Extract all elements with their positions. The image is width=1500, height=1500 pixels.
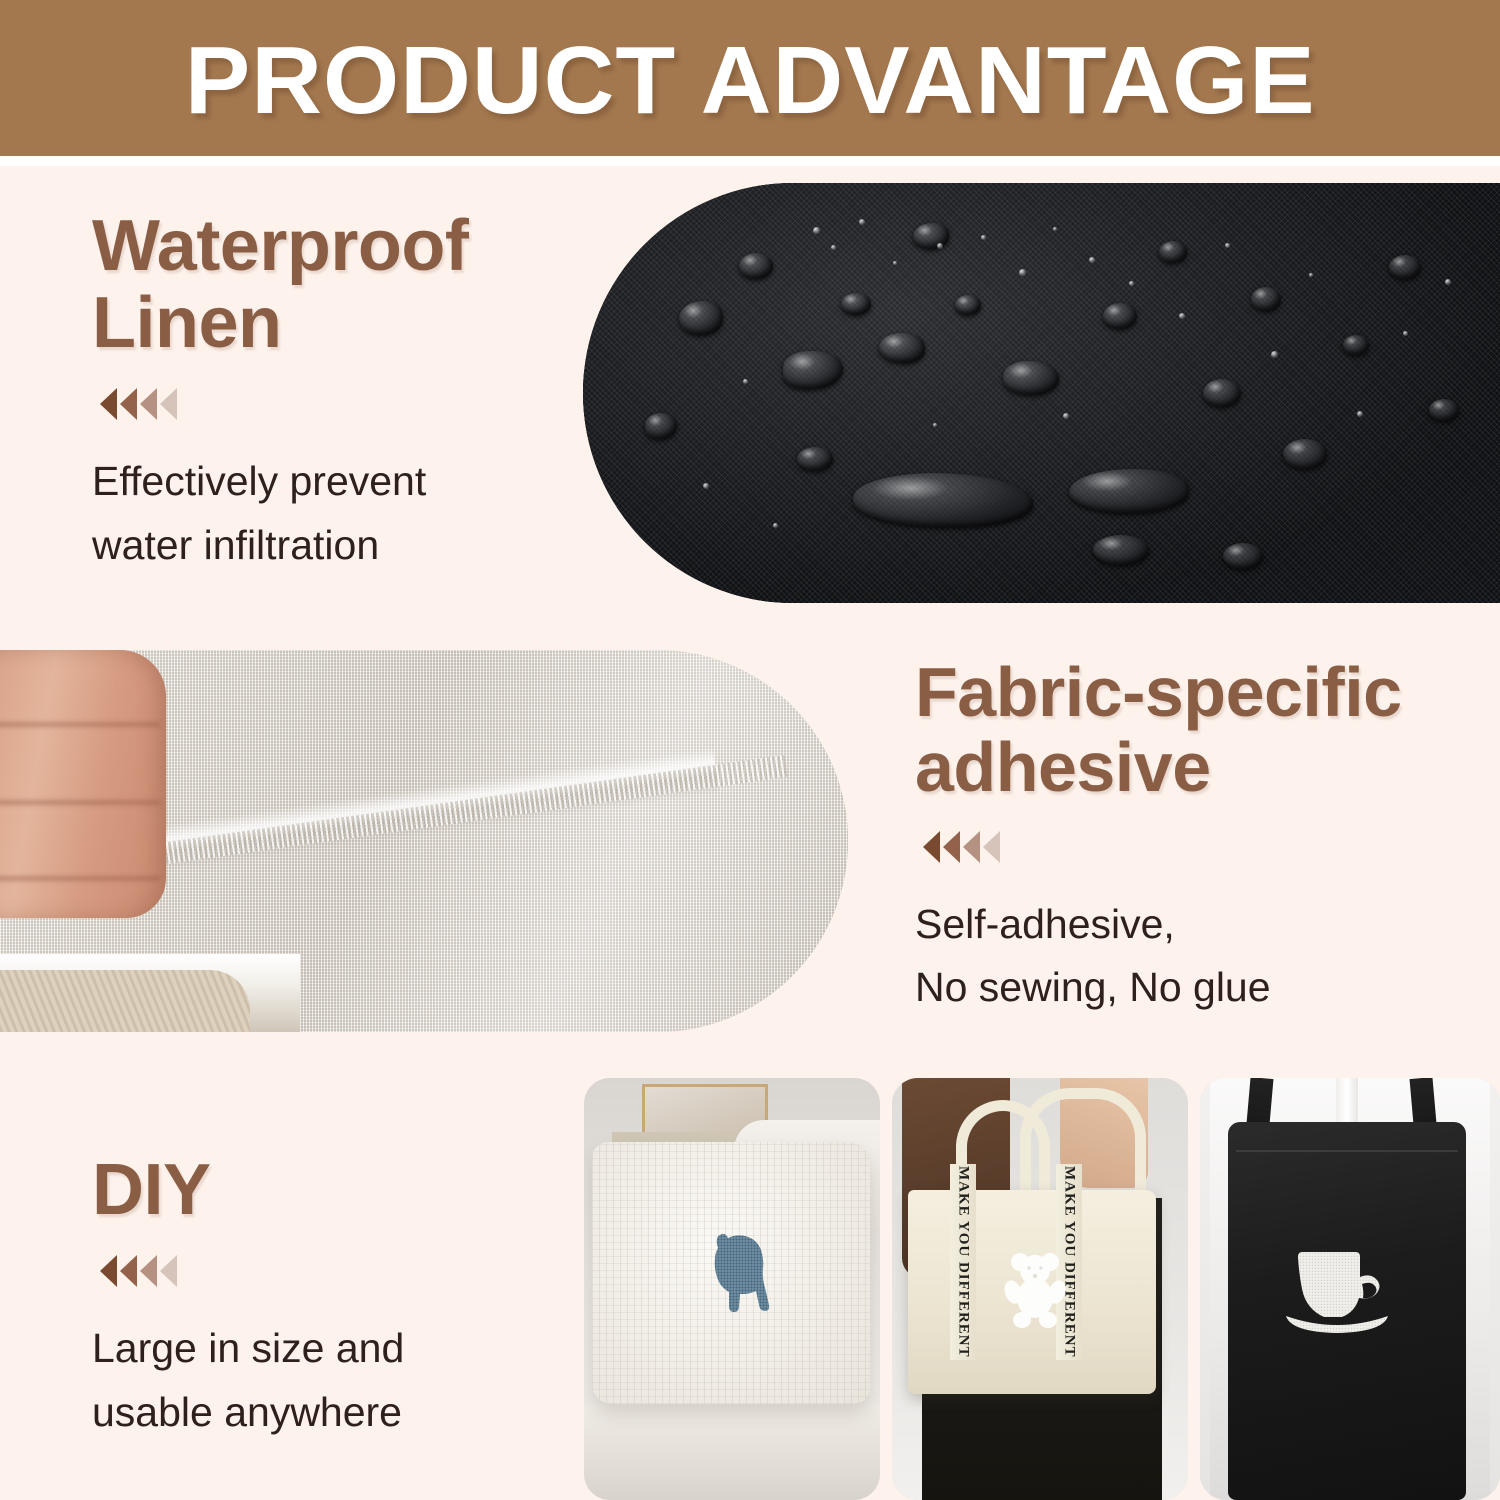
dog-silhouette-patch <box>692 1228 788 1338</box>
linen-fabric-in-hand-photo <box>0 650 848 1032</box>
chevron-left-icon <box>943 831 960 863</box>
chevron-left-icon <box>120 388 137 420</box>
chevron-left-icon <box>140 388 157 420</box>
tote-bag-bear-patch-photo: MAKE YOU DIFFERENT MAKE YOU DIFFERENT <box>892 1078 1188 1500</box>
feature-headline: DIY <box>92 1152 562 1229</box>
feature-subtext: Large in size and usable anywhere <box>92 1317 562 1444</box>
pillow-shadow-base <box>584 1404 880 1500</box>
pillow-dog-patch-photo <box>584 1078 880 1500</box>
chevron-left-icon <box>160 1255 177 1287</box>
header-banner: PRODUCT ADVANTAGE <box>0 0 1500 156</box>
banner-underline <box>0 156 1500 166</box>
fabric-underside <box>0 970 250 1032</box>
tote-strap-text: MAKE YOU DIFFERENT <box>955 1166 972 1358</box>
tote-strap-left: MAKE YOU DIFFERENT <box>950 1164 976 1360</box>
feature-waterproof-linen: Waterproof Linen Effectively prevent wat… <box>92 208 562 577</box>
chevron-left-quad-icon <box>923 831 1475 863</box>
chevron-left-icon <box>160 388 177 420</box>
teddy-bear-patch <box>1004 1250 1066 1328</box>
feature-diy: DIY Large in size and usable anywhere <box>92 1152 562 1444</box>
feature-subtext: Self-adhesive, No sewing, No glue <box>915 893 1475 1020</box>
feature-headline: Fabric-specific adhesive <box>915 655 1475 805</box>
feature-fabric-specific-adhesive: Fabric-specific adhesive Self-adhesive, … <box>915 655 1475 1020</box>
feature-subtext: Effectively prevent water infiltration <box>92 450 562 577</box>
chevron-left-icon <box>983 831 1000 863</box>
feature-headline: Waterproof Linen <box>92 208 562 362</box>
chevron-left-icon <box>923 831 940 863</box>
chevron-left-icon <box>140 1255 157 1287</box>
chevron-left-quad-icon <box>100 1255 562 1287</box>
waterproof-fabric-droplets-photo <box>583 183 1500 603</box>
teacup-patch <box>1284 1246 1390 1334</box>
hand <box>0 650 166 918</box>
chevron-left-icon <box>100 388 117 420</box>
chevron-left-icon <box>100 1255 117 1287</box>
apron-teacup-patch-photo <box>1200 1078 1500 1500</box>
page-title: PRODUCT ADVANTAGE <box>185 33 1316 129</box>
chevron-left-quad-icon <box>100 388 562 420</box>
chevron-left-icon <box>963 831 980 863</box>
chevron-left-icon <box>120 1255 137 1287</box>
